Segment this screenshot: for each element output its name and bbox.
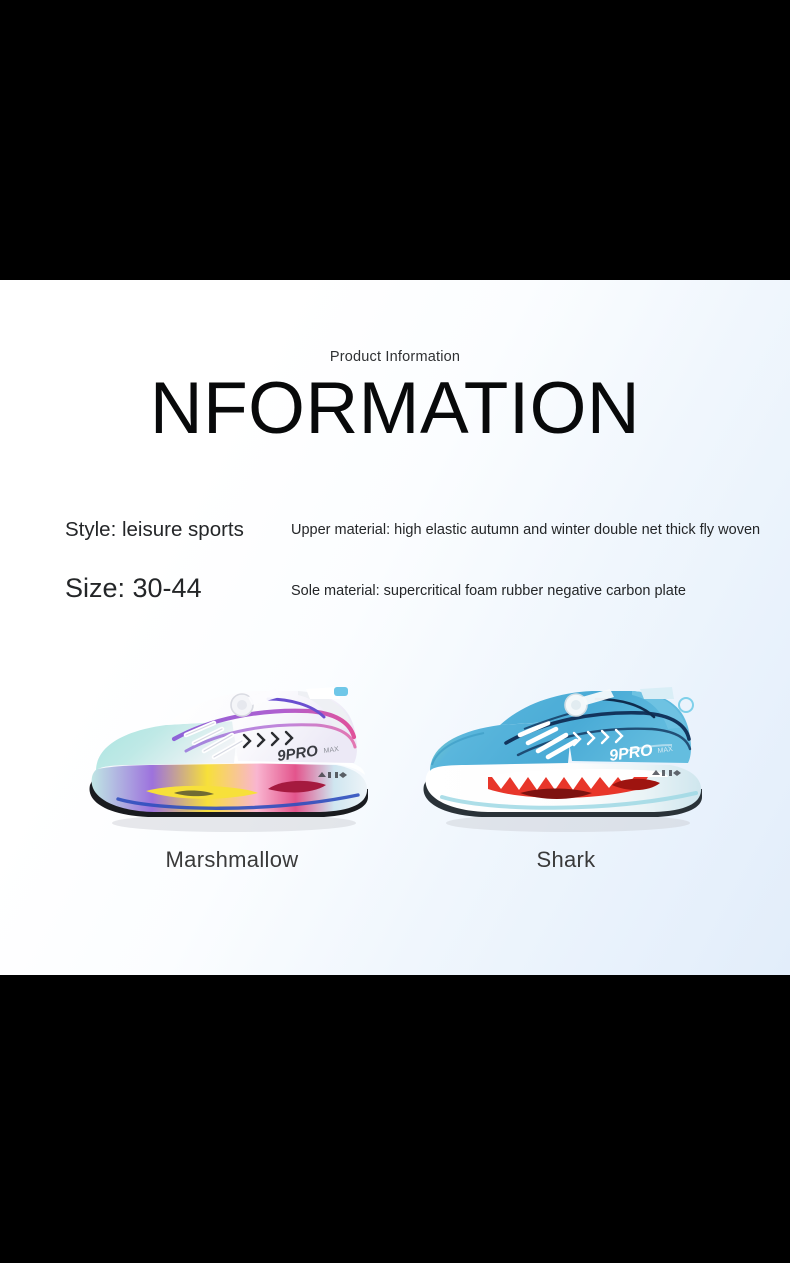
section-caption: Product Information <box>0 349 790 365</box>
product-name-marshmallow: Marshmallow <box>62 847 402 873</box>
letterbox-bottom <box>0 975 790 1263</box>
product-card-marshmallow[interactable]: 9PRO MAX Marshmallow <box>62 665 402 895</box>
product-detail-screenshot: Product Information NFORMATION Style: le… <box>0 0 790 1263</box>
spec-sole-material: Sole material: supercritical foam rubber… <box>291 583 686 599</box>
sneaker-marshmallow-icon: 9PRO MAX <box>62 665 402 840</box>
product-card-shark[interactable]: 9PRO MAX Shark <box>396 665 736 895</box>
shoe-image-marshmallow[interactable]: 9PRO MAX <box>62 665 402 840</box>
spec-upper-material: Upper material: high elastic autumn and … <box>291 522 760 538</box>
product-name-shark: Shark <box>396 847 736 873</box>
product-information-panel: Product Information NFORMATION Style: le… <box>0 280 790 975</box>
page-title: NFORMATION <box>0 372 790 445</box>
letterbox-top <box>0 0 790 280</box>
sneaker-shark-icon: 9PRO MAX <box>396 665 736 840</box>
spec-style: Style: leisure sports <box>65 518 244 542</box>
spec-size: Size: 30-44 <box>65 573 202 604</box>
shoe-image-shark[interactable]: 9PRO MAX <box>396 665 736 840</box>
